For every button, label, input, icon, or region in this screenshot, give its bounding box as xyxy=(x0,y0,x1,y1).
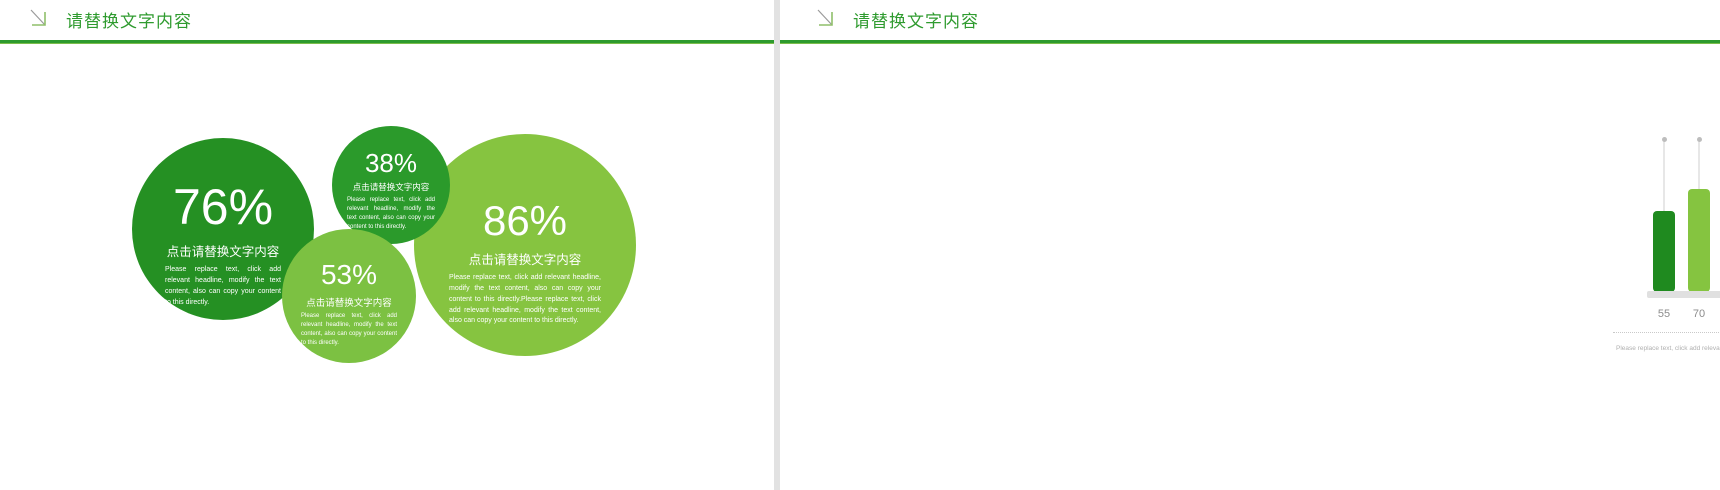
page-title: 请替换文字内容 xyxy=(853,7,979,32)
bubble-body: Please replace text, click add relevant … xyxy=(301,312,397,348)
bar-stem-dot xyxy=(1662,137,1667,142)
bubble-percent: 76% xyxy=(173,182,273,232)
slide-right: 请替换文字内容 557085406080 请替换文字内容Please repla… xyxy=(775,0,1720,490)
bar-column xyxy=(1653,132,1675,292)
bar-chart: 557085406080 xyxy=(1637,130,1720,320)
bubble-body: Please replace text, click add relevant … xyxy=(347,196,435,232)
footer-divider xyxy=(1613,332,1720,333)
bubble-body: Please replace text, click add relevant … xyxy=(449,273,601,327)
slide-pair: 请替换文字内容 86% 点击请替换文字内容 Please replace tex… xyxy=(0,0,1720,490)
bar-chart-bars xyxy=(1653,132,1720,292)
bar-x-label: 55 xyxy=(1653,308,1675,320)
bubble-body: Please replace text, click add relevant … xyxy=(165,265,281,308)
bubble-cluster: 86% 点击请替换文字内容 Please replace text, click… xyxy=(0,44,775,490)
page-title: 请替换文字内容 xyxy=(66,7,192,32)
header-right: 请替换文字内容 xyxy=(775,0,1720,44)
diagonal-arrow-icon xyxy=(28,8,54,30)
bubble-heading: 点击请替换文字内容 xyxy=(306,295,392,309)
bar xyxy=(1688,189,1710,292)
header-rule-secondary xyxy=(775,43,1720,44)
bubble-heading: 点击请替换文字内容 xyxy=(469,249,582,268)
diagonal-arrow-icon xyxy=(815,8,841,30)
bar xyxy=(1653,211,1675,292)
bubble-percent: 53% xyxy=(321,261,377,289)
bar-stem xyxy=(1699,140,1700,189)
bubble-38[interactable]: 38% 点击请替换文字内容 Please replace text, click… xyxy=(332,126,450,244)
footer-text: Please replace text, click add relevant … xyxy=(1616,344,1720,354)
bar-column xyxy=(1688,132,1710,292)
bar-x-label: 70 xyxy=(1688,308,1710,320)
bubble-percent: 86% xyxy=(483,200,567,242)
bubble-heading: 点击请替换文字内容 xyxy=(167,241,280,260)
bar-stem xyxy=(1664,140,1665,211)
header-left: 请替换文字内容 xyxy=(0,0,775,44)
bubble-percent: 38% xyxy=(365,150,417,176)
slide-left: 请替换文字内容 86% 点击请替换文字内容 Please replace tex… xyxy=(0,0,775,490)
bar-chart-baseline xyxy=(1647,291,1720,298)
bubble-heading: 点击请替换文字内容 xyxy=(353,181,430,193)
bar-stem-dot xyxy=(1697,137,1702,142)
bubble-53[interactable]: 53% 点击请替换文字内容 Please replace text, click… xyxy=(282,229,416,363)
bar-chart-x-labels: 557085406080 xyxy=(1653,308,1720,320)
slide-divider xyxy=(774,0,780,490)
